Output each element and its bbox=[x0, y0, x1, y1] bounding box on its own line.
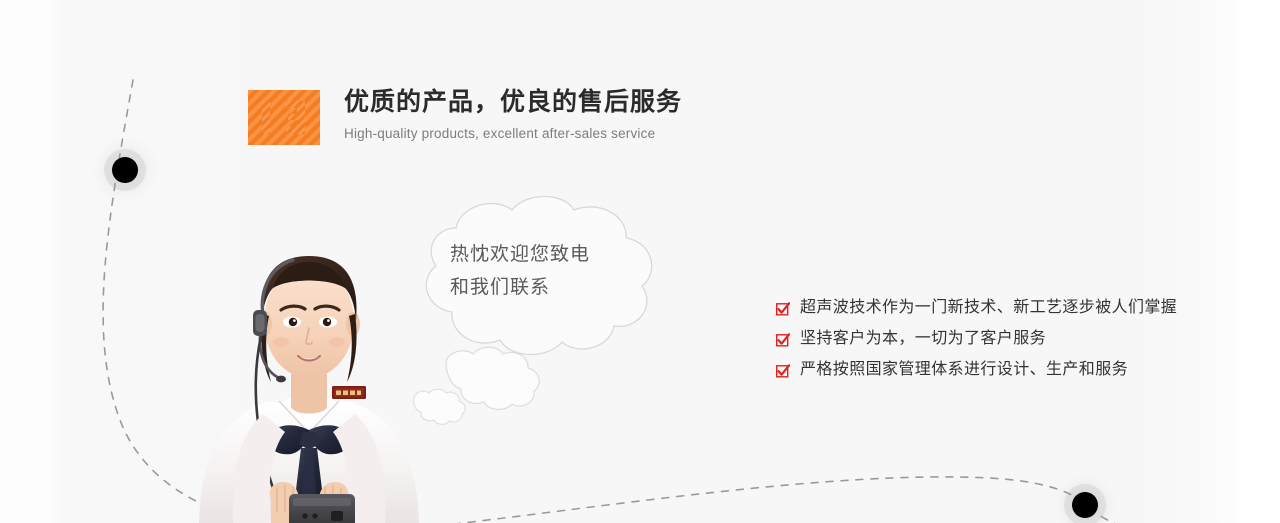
decor-dot-top bbox=[112, 157, 138, 183]
feature-list: 超声波技术作为一门新技术、新工艺逐步被人们掌握 坚持客户为本，一切为了客户服务 … bbox=[776, 298, 1216, 391]
check-square-icon bbox=[776, 333, 790, 347]
list-item: 超声波技术作为一门新技术、新工艺逐步被人们掌握 bbox=[776, 298, 1216, 318]
speech-bubble-text: 热忱欢迎您致电 和我们联系 bbox=[450, 238, 640, 305]
list-item: 严格按照国家管理体系进行设计、生产和服务 bbox=[776, 360, 1216, 380]
agent-photo bbox=[193, 182, 425, 523]
speech-bubble-group: 热忱欢迎您致电 和我们联系 bbox=[398, 190, 688, 430]
thought-bubble-shapes bbox=[398, 190, 688, 430]
check-square-icon bbox=[776, 302, 790, 316]
decor-dot-bottom bbox=[1072, 492, 1098, 518]
list-item-label: 超声波技术作为一门新技术、新工艺逐步被人们掌握 bbox=[800, 298, 1177, 318]
section-headline: 优质的产品，优良的售后服务 bbox=[344, 88, 682, 117]
section-header: 03 优质的产品，优良的售后服务 High-quality products, … bbox=[248, 88, 682, 145]
list-item: 坚持客户为本，一切为了客户服务 bbox=[776, 329, 1216, 349]
speech-bubble-line-2: 和我们联系 bbox=[450, 271, 640, 304]
section-subheadline: High-quality products, excellent after-s… bbox=[344, 126, 682, 141]
promo-section: 03 优质的产品，优良的售后服务 High-quality products, … bbox=[0, 0, 1280, 523]
section-number-glyph bbox=[248, 90, 320, 145]
speech-bubble-line-1: 热忱欢迎您致电 bbox=[450, 238, 640, 271]
section-number-badge: 03 bbox=[248, 90, 320, 145]
check-square-icon bbox=[776, 364, 790, 378]
list-item-label: 严格按照国家管理体系进行设计、生产和服务 bbox=[800, 360, 1128, 380]
list-item-label: 坚持客户为本，一切为了客户服务 bbox=[800, 329, 1046, 349]
